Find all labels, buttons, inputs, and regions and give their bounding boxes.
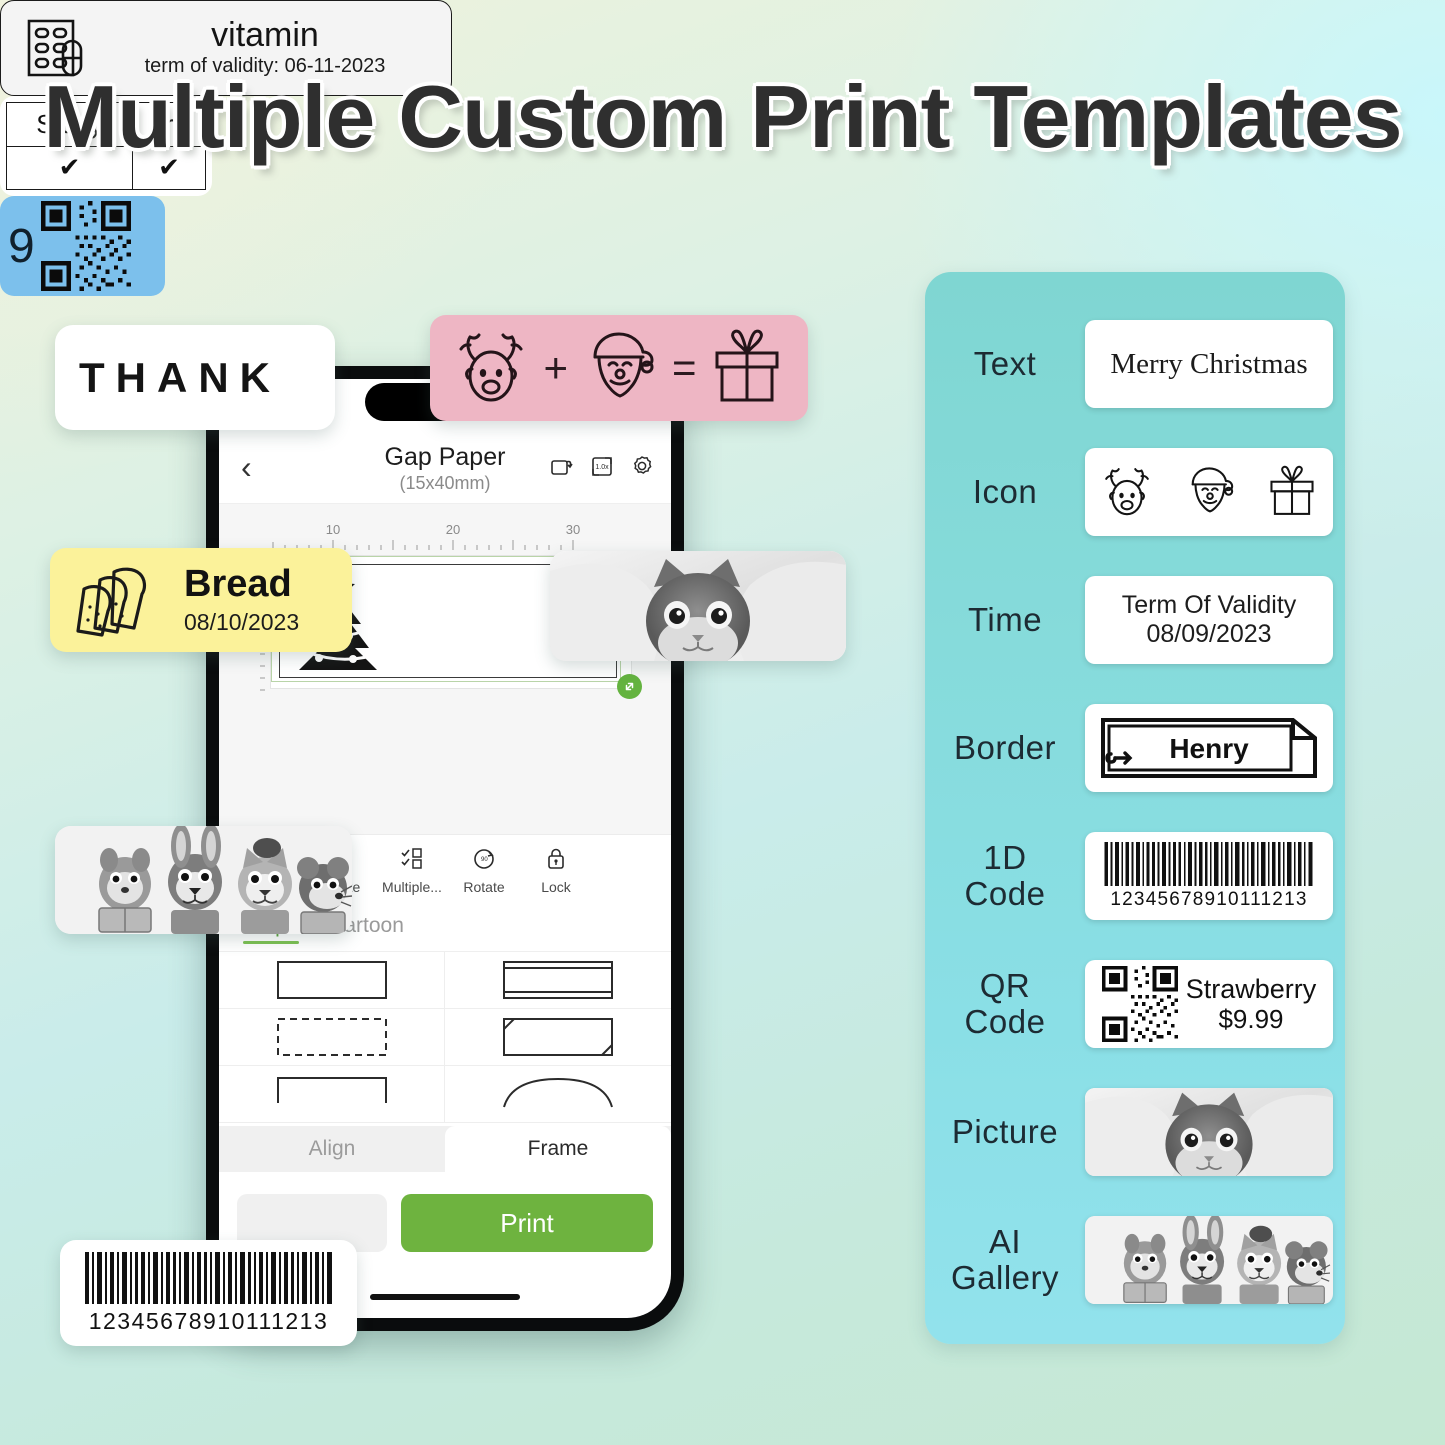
qrcode-template-card[interactable]: Strawberry $9.99 [1085, 960, 1333, 1048]
rotate-paper-icon[interactable] [549, 453, 575, 484]
panel-row-border: Border Henry [925, 704, 1345, 792]
bread-name: Bread [184, 565, 299, 603]
rotate-button[interactable]: 90 Rotate [448, 846, 520, 895]
thank-label-card: THANK [55, 325, 335, 430]
qrcode-icon [41, 201, 131, 291]
cat-photo [1085, 1088, 1333, 1176]
barcode-template-card[interactable]: 12345678910111213 [1085, 832, 1333, 920]
validity-title: Term Of Validity [1122, 591, 1297, 621]
barcode-number: 12345678910111213 [1110, 889, 1307, 911]
barcode-number: 12345678910111213 [89, 1308, 329, 1335]
rotate-label: Rotate [448, 879, 520, 895]
row-label-time: Time [925, 602, 1085, 638]
lock-label: Lock [520, 879, 592, 895]
row-label-qrcode: QRCode [925, 968, 1085, 1039]
resize-handle[interactable] [617, 674, 642, 699]
reindeer-icon [452, 329, 530, 407]
reindeer-icon [1100, 463, 1154, 521]
settings-gear-icon[interactable] [629, 453, 655, 484]
app-header-icons: 1.0x [549, 453, 655, 484]
lock-button[interactable]: Lock [520, 846, 592, 895]
row-label-text: Text [925, 346, 1085, 382]
bread-loaf-icon [74, 562, 166, 638]
vitamin-name: vitamin [101, 18, 429, 54]
bread-label-card: Bread 08/10/2023 [50, 548, 352, 652]
merry-christmas-text: Merry Christmas [1110, 348, 1307, 381]
multiple-label: Multiple... [376, 879, 448, 895]
app-header: ‹ Gap Paper (15x40mm) 1.0x [219, 437, 671, 504]
equals-sign: = [672, 344, 697, 392]
cat-picture-card [550, 551, 846, 661]
barcode-label-card: 12345678910111213 [60, 1240, 357, 1346]
qrcode-icon [1102, 966, 1178, 1042]
row-label-picture: Picture [925, 1114, 1085, 1150]
row-label-border: Border [925, 730, 1085, 766]
panel-row-picture: Picture [925, 1088, 1345, 1176]
page-title: Multiple Custom Print Templates [0, 66, 1445, 168]
ai-animals-card [55, 826, 352, 934]
thank-label-text: THANK [79, 354, 281, 402]
panel-row-1dcode: 1DCode 12345678910111 [925, 832, 1345, 920]
scale-1x-icon[interactable]: 1.0x [589, 453, 615, 484]
time-template-card[interactable]: Term Of Validity 08/09/2023 [1085, 576, 1333, 664]
frame-template-item[interactable] [219, 1009, 445, 1066]
svg-text:10: 10 [326, 522, 340, 537]
text-template-card[interactable]: Merry Christmas [1085, 320, 1333, 408]
cartoon-animals-photo [55, 826, 352, 934]
ai-gallery-card[interactable] [1085, 1216, 1333, 1304]
name-border-frame: Henry [1095, 712, 1323, 784]
panel-row-qrcode: QRCode [925, 960, 1345, 1048]
lock-icon [543, 846, 569, 872]
cartoon-animals-photo [1085, 1216, 1333, 1304]
segment-align[interactable]: Align [219, 1126, 445, 1172]
icon-set [1085, 463, 1333, 521]
gift-icon [709, 329, 785, 407]
frame-template-item[interactable] [219, 952, 445, 1009]
qr-product-info: Strawberry $9.99 [1186, 974, 1317, 1033]
bottom-segment-tabs: Align Frame [219, 1126, 671, 1172]
barcode-icon [83, 1252, 335, 1304]
qr-price-blue-card: 9 [0, 196, 165, 296]
row-label-1dcode: 1DCode [925, 840, 1085, 911]
border-name-text: Henry [1169, 733, 1249, 764]
santa-icon [1183, 463, 1237, 521]
plus-sign: + [543, 344, 568, 392]
qr-product-name: Strawberry [1186, 974, 1317, 1004]
panel-row-ai-gallery: AIGallery [925, 1216, 1345, 1304]
validity-date: 08/09/2023 [1146, 620, 1271, 650]
frame-template-grid [219, 952, 671, 1123]
multiple-select-button[interactable]: Multiple... [376, 846, 448, 895]
row-label-ai-gallery: AIGallery [925, 1224, 1085, 1295]
icon-template-card[interactable] [1085, 448, 1333, 536]
svg-text:1.0x: 1.0x [595, 464, 609, 471]
frame-template-item[interactable] [219, 1066, 445, 1123]
cat-photo [550, 551, 846, 661]
panel-row-icon: Icon [925, 448, 1345, 536]
qr-product-price: $9.99 [1218, 1005, 1283, 1034]
christmas-formula-card: + = [430, 315, 808, 421]
qr-price-text: 9 [8, 219, 35, 274]
svg-text:30: 30 [566, 522, 580, 537]
rotate-90-icon: 90 [471, 846, 497, 872]
row-label-icon: Icon [925, 474, 1085, 510]
gift-icon [1266, 463, 1318, 521]
border-template-card[interactable]: Henry [1085, 704, 1333, 792]
picture-template-card[interactable] [1085, 1088, 1333, 1176]
frame-template-item[interactable] [445, 952, 671, 1009]
poster-canvas: Multiple Custom Print Templates 11:28 ‹ … [0, 0, 1445, 1445]
bread-date: 08/10/2023 [184, 609, 299, 636]
home-indicator [370, 1294, 520, 1300]
panel-row-text: Text Merry Christmas [925, 320, 1345, 408]
barcode-block: 12345678910111213 [1085, 841, 1333, 911]
frame-template-item[interactable] [445, 1009, 671, 1066]
frame-template-item[interactable] [445, 1066, 671, 1123]
print-button[interactable]: Print [401, 1194, 653, 1252]
barcode-icon [1103, 841, 1315, 887]
segment-frame[interactable]: Frame [445, 1126, 671, 1172]
multi-select-icon [399, 846, 425, 872]
panel-row-time: Time Term Of Validity 08/09/2023 [925, 576, 1345, 664]
horizontal-ruler: 10 20 30 [263, 512, 671, 552]
template-types-panel: Text Merry Christmas Icon [925, 272, 1345, 1344]
svg-text:20: 20 [446, 522, 460, 537]
santa-icon [581, 329, 659, 407]
svg-text:90: 90 [481, 857, 488, 863]
